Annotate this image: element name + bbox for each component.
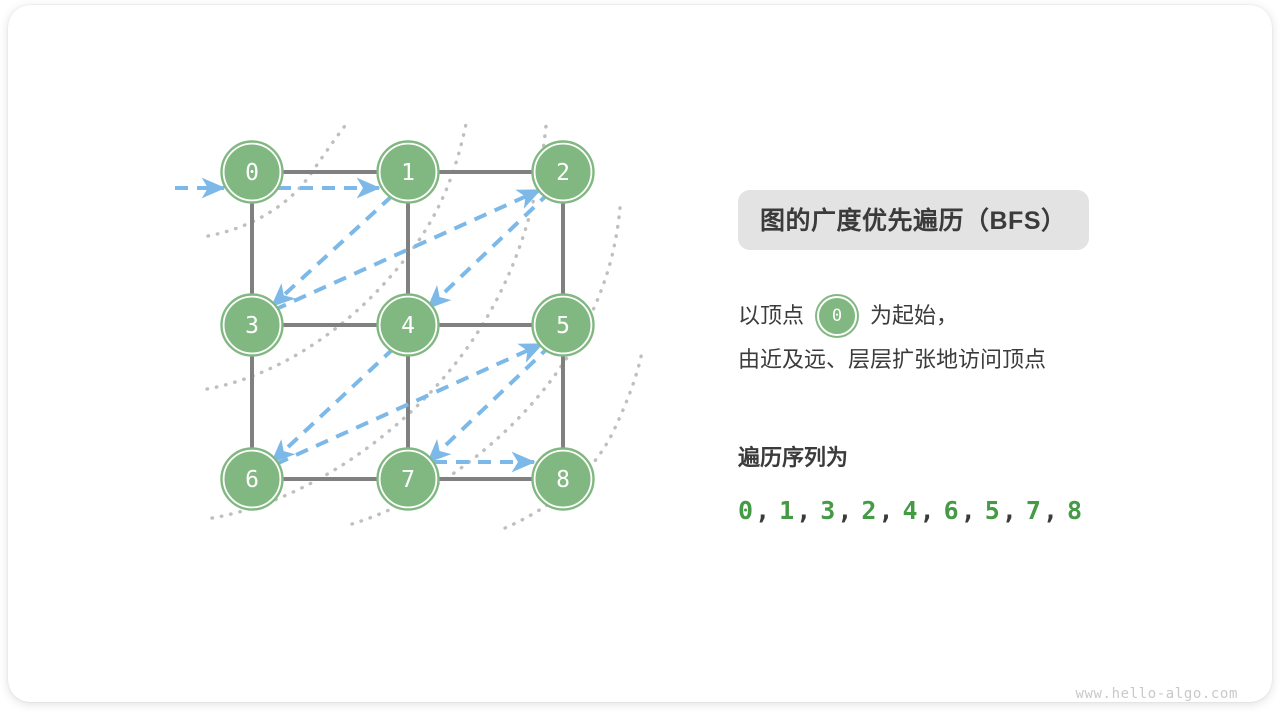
sequence-item: 8 — [1067, 496, 1084, 525]
page-title: 图的广度优先遍历（BFS） — [738, 190, 1089, 250]
graph-node-6-label: 6 — [245, 467, 259, 493]
sequence-item: 5 — [985, 496, 1002, 525]
sequence-separator: , — [920, 496, 937, 525]
arrow-1-to-3 — [272, 196, 392, 306]
sequence-item: 7 — [1026, 496, 1043, 525]
graph-node-4-label: 4 — [401, 313, 415, 339]
graph-node-1[interactable]: 1 — [378, 142, 439, 203]
start-node-badge: 0 — [817, 296, 857, 336]
graph-node-5[interactable]: 5 — [533, 295, 594, 356]
graph-node-1-label: 1 — [401, 160, 415, 186]
graph-node-8[interactable]: 8 — [533, 449, 594, 510]
arrow-4-to-6 — [272, 348, 394, 462]
info-panel: 图的广度优先遍历（BFS） 以顶点 0 为起始， 由近及远、层层扩张地访问顶点 … — [738, 190, 1218, 525]
sequence-heading: 遍历序列为 — [738, 440, 1218, 472]
description-suffix: 为起始， — [870, 294, 958, 338]
description-line-2: 由近及远、层层扩张地访问顶点 — [738, 338, 1218, 382]
graph-node-4[interactable]: 4 — [378, 295, 439, 356]
graph-node-8-label: 8 — [556, 467, 570, 493]
watermark: www.hello-algo.com — [1075, 686, 1238, 702]
graph-node-3[interactable]: 3 — [222, 295, 283, 356]
graph-node-0-label: 0 — [245, 160, 259, 186]
sequence-item: 6 — [944, 496, 961, 525]
description-line-1: 以顶点 0 为起始， — [738, 294, 1218, 338]
sequence-separator: , — [878, 496, 895, 525]
graph-node-7[interactable]: 7 — [378, 449, 439, 510]
description-block: 以顶点 0 为起始， 由近及远、层层扩张地访问顶点 — [738, 294, 1218, 382]
graph-node-2-label: 2 — [556, 160, 570, 186]
sequence-separator: , — [837, 496, 854, 525]
sequence-item: 3 — [820, 496, 837, 525]
sequence-separator: , — [796, 496, 813, 525]
sequence-separator: , — [1043, 496, 1060, 525]
sequence-separator: , — [1002, 496, 1019, 525]
arrow-2-to-4 — [428, 192, 550, 308]
screenshot-root: 0 1 2 3 4 — [0, 0, 1280, 720]
sequence-separator: , — [961, 496, 978, 525]
sequence-separator: , — [755, 496, 772, 525]
sequence-item: 2 — [861, 496, 878, 525]
graph-node-0[interactable]: 0 — [222, 142, 283, 203]
graph-node-2[interactable]: 2 — [533, 142, 594, 203]
graph-node-3-label: 3 — [245, 313, 259, 339]
graph-node-7-label: 7 — [401, 467, 415, 493]
sequence-item: 4 — [903, 496, 920, 525]
sequence-item: 1 — [779, 496, 796, 525]
description-prefix: 以顶点 — [738, 294, 804, 338]
graph-node-6[interactable]: 6 — [222, 449, 283, 510]
traversal-sequence: 0,1,3,2,4,6,5,7,8 — [738, 496, 1218, 525]
graph-nodes: 0 1 2 3 4 — [222, 142, 594, 510]
sequence-item: 0 — [738, 496, 755, 525]
graph-node-5-label: 5 — [556, 313, 570, 339]
